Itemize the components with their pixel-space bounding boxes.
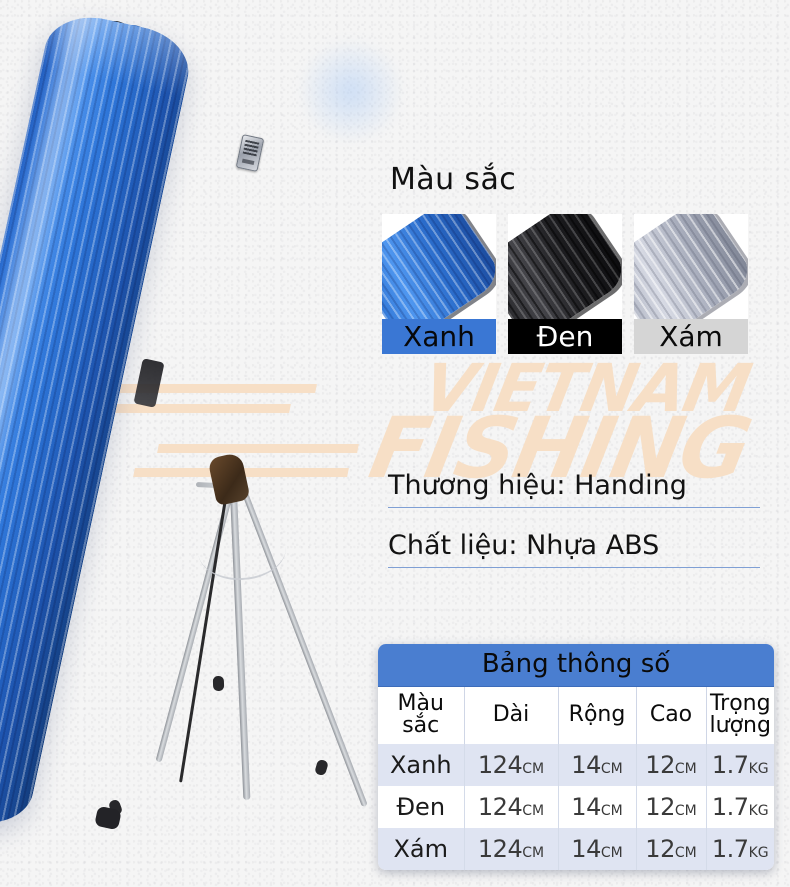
cell-length-unit: CM [522,803,544,819]
colors-heading: Màu sắc [390,162,516,197]
col-header-color: Màu sắc [378,687,464,744]
cell-length: 124CM [464,828,558,870]
cell-length-value: 124 [478,751,522,779]
spec-table-grid: Màu sắc Dài Rộng Cao Trọng lượng Xanh 12… [378,687,774,870]
cell-width: 14CM [558,744,636,786]
swatch-label-grey: Xám [634,319,748,354]
col-header-height: Cao [636,687,706,744]
col-header-color-l1: Màu [398,691,444,716]
cell-length: 124CM [464,786,558,828]
spec-table-title: Bảng thông số [378,644,774,687]
cell-color: Xám [378,828,464,870]
badge-sub [242,159,255,165]
spec-table: Bảng thông số Màu sắc Dài Rộng Cao Trọng… [378,644,774,870]
cell-height-value: 12 [645,793,675,821]
table-header-row: Màu sắc Dài Rộng Cao Trọng lượng [378,687,774,744]
cell-width: 14CM [558,786,636,828]
color-swatch-blue[interactable]: Xanh [382,214,496,354]
cell-width-value: 14 [571,835,601,863]
col-header-color-l2: sắc [402,713,439,738]
cell-height-value: 12 [645,751,675,779]
cell-width-value: 14 [571,751,601,779]
color-swatch-grey[interactable]: Xám [634,214,748,354]
cell-height: 12CM [636,744,706,786]
case-ribbed-face [0,8,196,833]
col-header-width: Rộng [558,687,636,744]
col-header-weight-l1: Trọng [710,691,771,716]
spec-line-brand: Thương hiệu: Handing [388,470,760,508]
case-highlight [0,9,102,812]
case-strap [133,358,164,408]
swatch-label-blue: Xanh [382,319,496,354]
cell-weight: 1.7KG [706,744,774,786]
col-header-weight-l2: lượng [710,713,771,738]
photo-highlight [296,36,406,146]
table-row: Xanh 124CM 14CM 12CM 1.7KG [378,744,774,786]
product-photo [0,0,400,887]
cell-weight-unit: KG [749,761,769,777]
cell-color: Đen [378,786,464,828]
badge-mark [243,140,260,157]
brand-badge-icon [236,134,265,172]
cell-height: 12CM [636,786,706,828]
tripod-foot [314,759,329,776]
cell-length: 124CM [464,744,558,786]
cell-width-value: 14 [571,793,601,821]
cell-width-unit: CM [601,761,623,777]
color-swatch-black[interactable]: Đen [508,214,622,354]
cell-width-unit: CM [601,845,623,861]
swatch-label-black: Đen [508,319,622,354]
cell-color: Xanh [378,744,464,786]
cell-weight-unit: KG [749,803,769,819]
cell-weight-value: 1.7 [712,751,749,779]
cell-height-unit: CM [675,803,697,819]
cell-height-unit: CM [675,761,697,777]
cell-height-value: 12 [645,835,675,863]
cell-width-unit: CM [601,803,623,819]
table-row: Đen 124CM 14CM 12CM 1.7KG [378,786,774,828]
cell-weight-value: 1.7 [712,793,749,821]
col-header-length: Dài [464,687,558,744]
color-swatch-group: Xanh Đen Xám [382,214,748,354]
table-row: Xám 124CM 14CM 12CM 1.7KG [378,828,774,870]
col-header-weight: Trọng lượng [706,687,774,744]
cell-length-value: 124 [478,835,522,863]
cell-weight-unit: KG [749,845,769,861]
product-infographic: VIETNAM FISHING [0,0,790,887]
cell-width: 14CM [558,828,636,870]
cell-length-value: 124 [478,793,522,821]
cell-length-unit: CM [522,845,544,861]
cell-height-unit: CM [675,845,697,861]
cell-weight-value: 1.7 [712,835,749,863]
rod-case [0,8,296,868]
case-body [0,8,196,833]
cell-height: 12CM [636,828,706,870]
cell-length-unit: CM [522,761,544,777]
spec-line-material: Chất liệu: Nhựa ABS [388,530,760,568]
cell-weight: 1.7KG [706,786,774,828]
case-foot-nub [94,806,122,831]
spec-text-block: Thương hiệu: Handing Chất liệu: Nhựa ABS [388,470,760,590]
cell-weight: 1.7KG [706,828,774,870]
